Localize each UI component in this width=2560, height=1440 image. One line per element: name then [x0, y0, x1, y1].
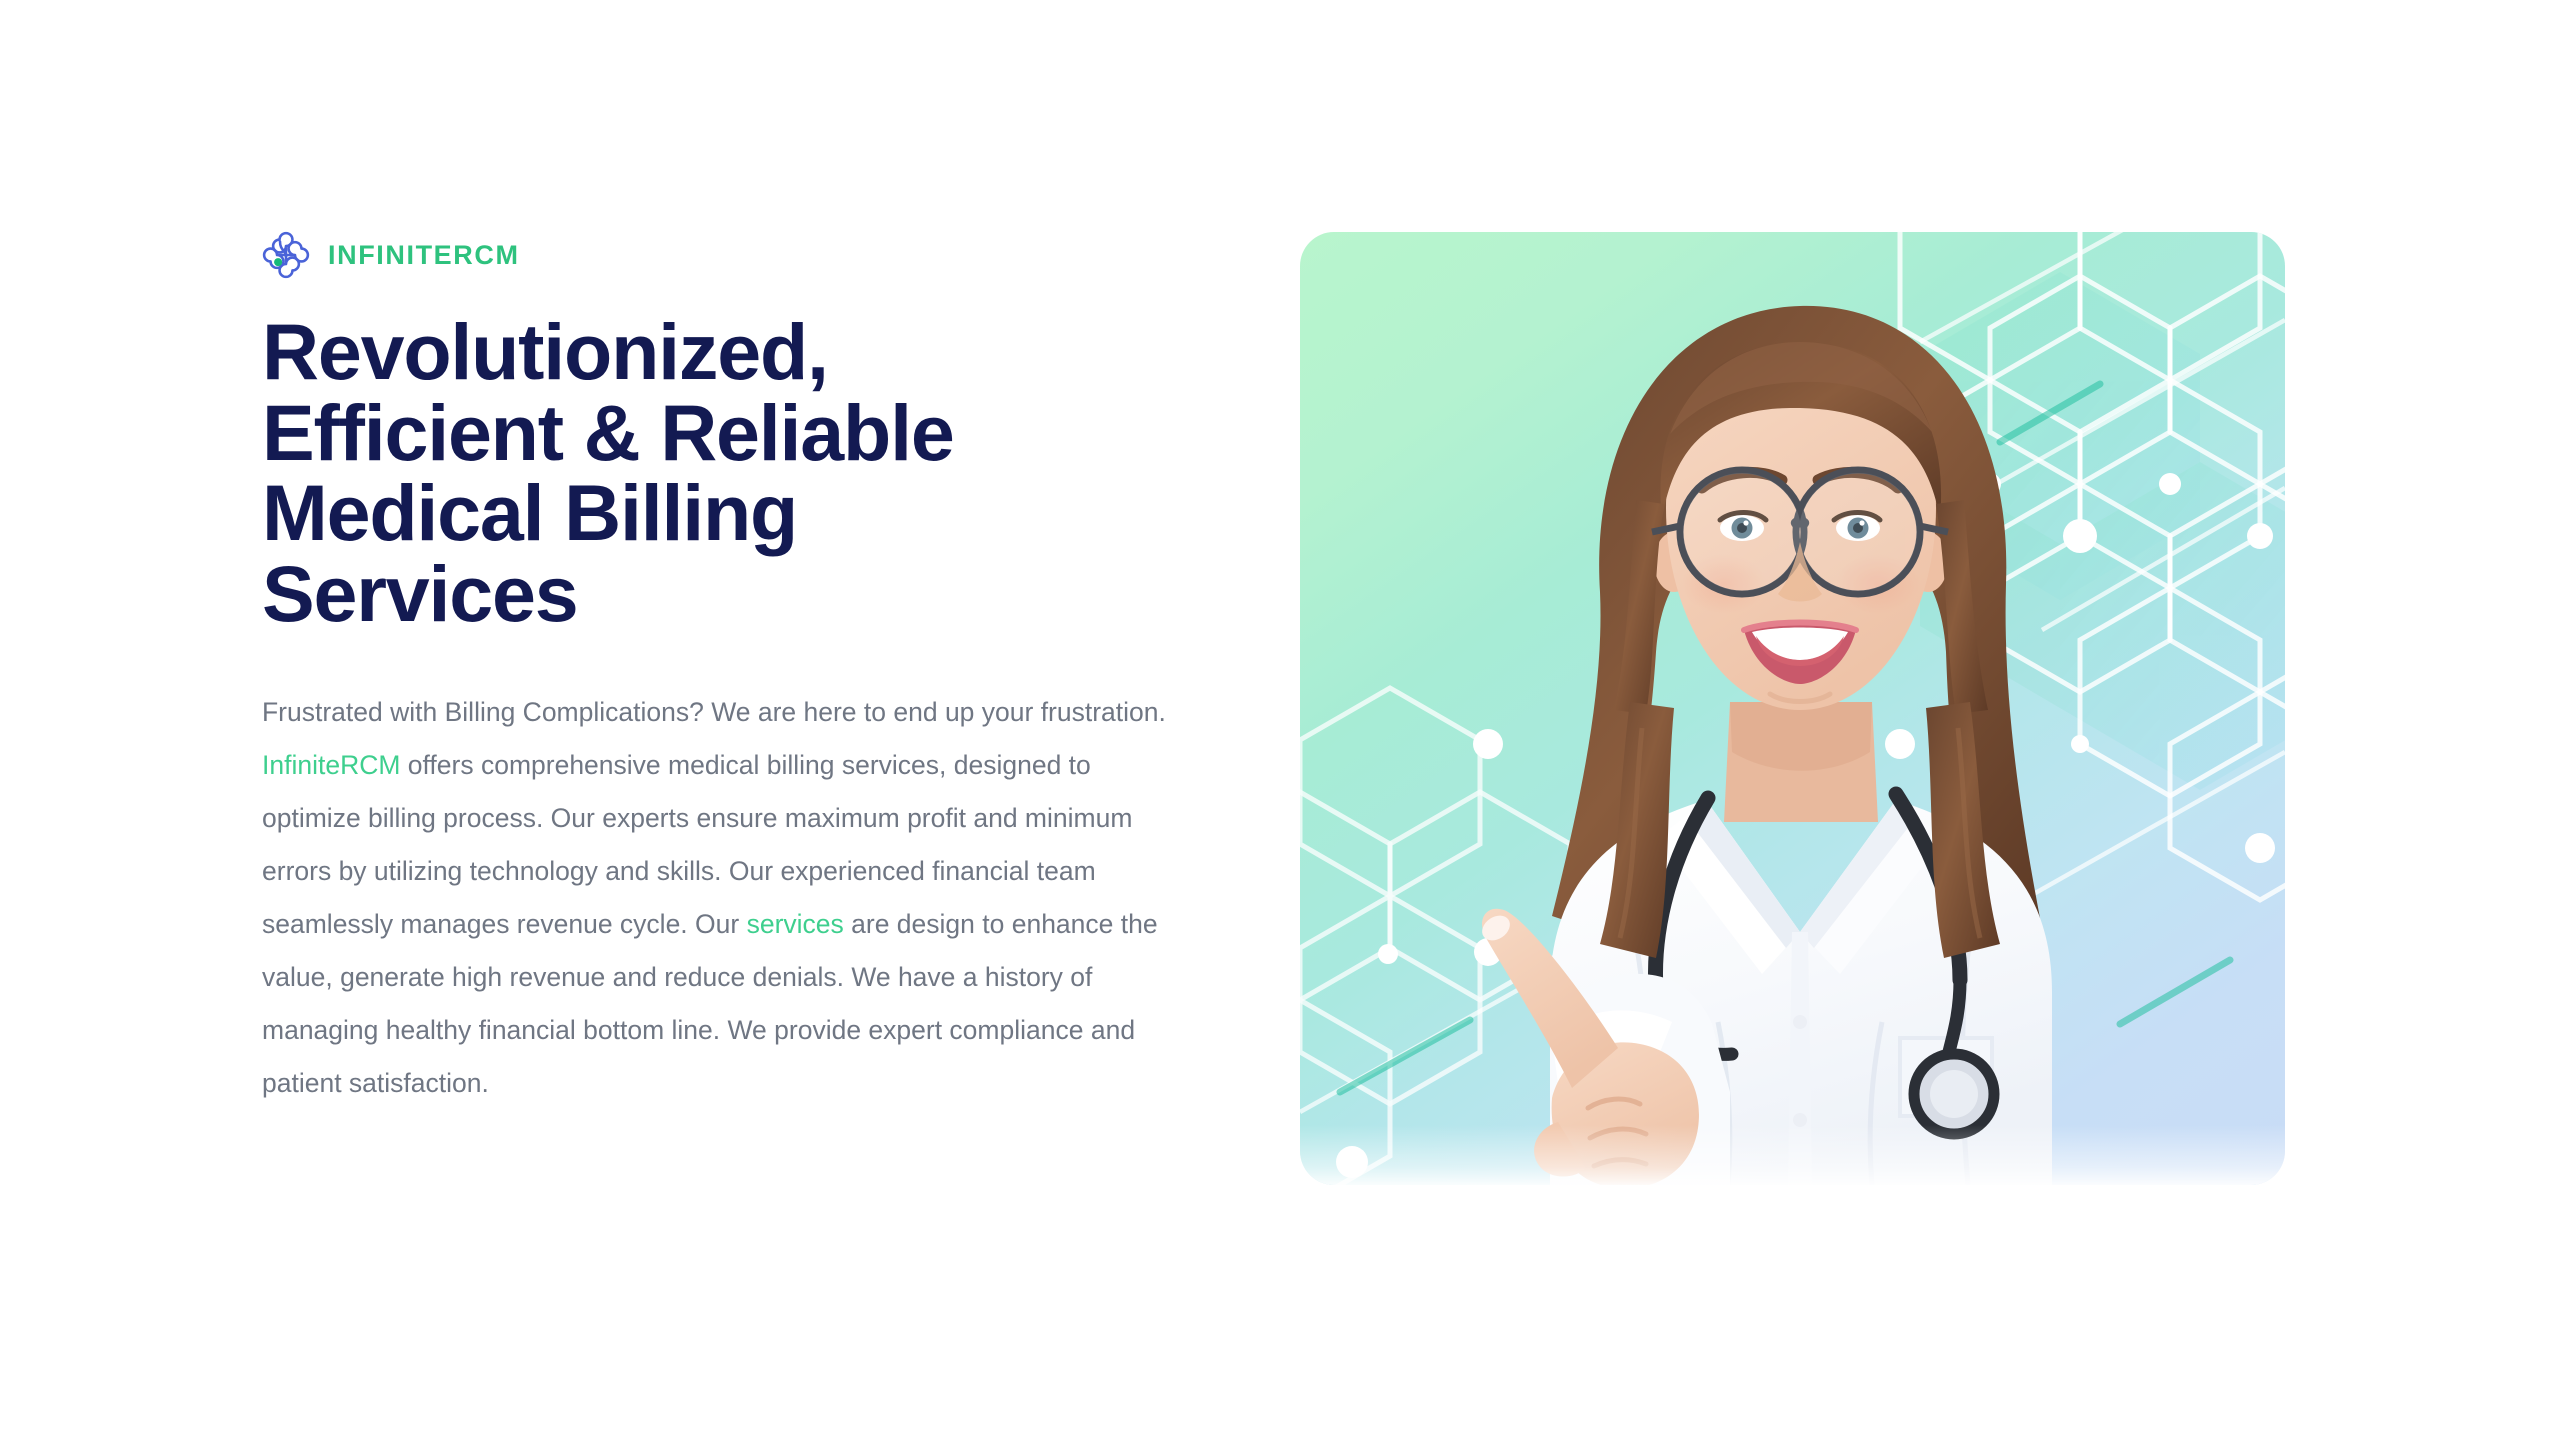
hero-description-part1: Frustrated with Billing Complications? W…: [262, 697, 1166, 727]
hero-text-column: INFINITERCM Revolutionized, Efficient & …: [262, 232, 1192, 1110]
logo-accent-dot: [274, 258, 282, 266]
hero-description: Frustrated with Billing Complications? W…: [262, 686, 1187, 1110]
hero-section: INFINITERCM Revolutionized, Efficient & …: [0, 0, 2560, 1440]
medical-clover-stethoscope-icon: [262, 231, 310, 279]
doctor-portrait-image: [1300, 232, 2285, 1185]
inline-link-services[interactable]: services: [747, 909, 844, 939]
hero-image-panel: [1300, 232, 2285, 1185]
brand-wordmark: INFINITERCM: [328, 242, 520, 269]
page-title: Revolutionized, Efficient & Reliable Med…: [262, 312, 1092, 634]
brand-logo[interactable]: INFINITERCM: [262, 232, 1192, 278]
inline-link-infinitercm[interactable]: InfiniteRCM: [262, 750, 400, 780]
